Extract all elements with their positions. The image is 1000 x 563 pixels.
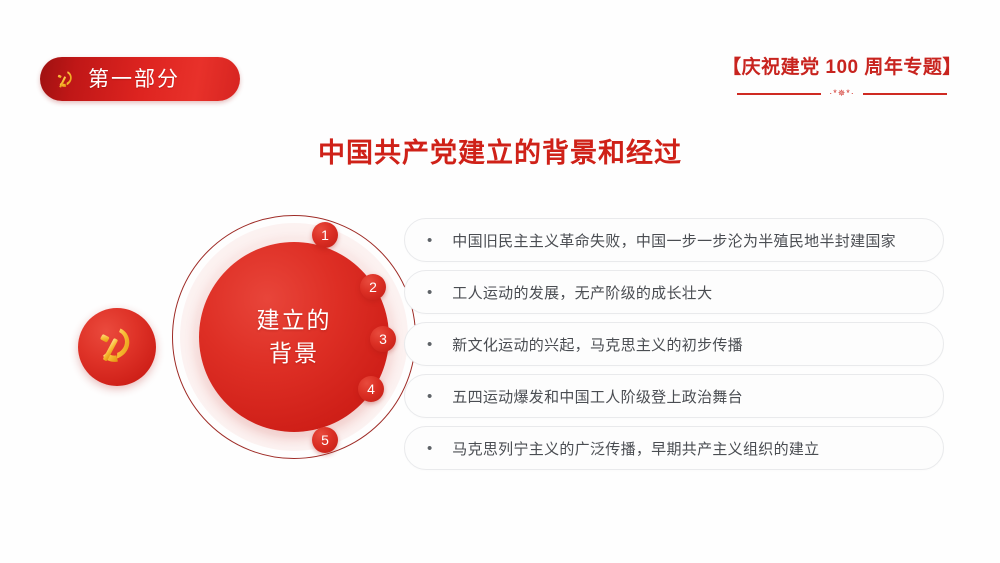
badge-number: 3 — [379, 332, 387, 346]
stars-icon: ·*✵*· — [821, 89, 863, 98]
diagram-number-badge-4[interactable]: 4 — [358, 376, 384, 402]
bullet-icon: • — [427, 337, 432, 352]
bullet-icon: • — [427, 233, 432, 248]
section-badge-label: 第一部分 — [88, 69, 180, 90]
section-badge[interactable]: 第一部分 — [40, 57, 240, 101]
core-label-line-2: 背景 — [269, 337, 319, 370]
list-item-label: 新文化运动的兴起，马克思主义的初步传播 — [452, 334, 743, 355]
page-title: 中国共产党建立的背景和经过 — [0, 131, 1000, 170]
list-item[interactable]: • 新文化运动的兴起，马克思主义的初步传播 — [404, 322, 944, 366]
anniversary-tagline-text: 【庆祝建党 100 周年专题】 — [714, 56, 970, 80]
diagram-number-badge-3[interactable]: 3 — [370, 326, 396, 352]
bullet-icon: • — [427, 285, 432, 300]
list-item-label: 五四运动爆发和中国工人阶级登上政治舞台 — [452, 386, 743, 407]
badge-number: 4 — [367, 382, 375, 396]
circle-diagram: 建立的 背景 — [70, 205, 400, 485]
diagram-core-circle: 建立的 背景 — [199, 242, 389, 432]
bullet-icon: • — [427, 389, 432, 404]
badge-number: 5 — [321, 433, 329, 447]
diagram-number-badge-5[interactable]: 5 — [312, 427, 338, 453]
list-item-label: 工人运动的发展，无产阶级的成长壮大 — [452, 282, 712, 303]
tagline-decorative-rule: ·*✵*· — [714, 87, 970, 101]
slide-canvas: 第一部分 【庆祝建党 100 周年专题】 ·*✵*· 中国共产党建立的背景和经过… — [0, 0, 1000, 563]
rule-right-line — [863, 93, 947, 95]
list-item[interactable]: • 工人运动的发展，无产阶级的成长壮大 — [404, 270, 944, 314]
rule-left-line — [737, 93, 821, 95]
party-emblem-hammer-sickle-icon — [52, 66, 79, 93]
list-item-label: 马克思列宁主义的广泛传播，早期共产主义组织的建立 — [452, 438, 819, 459]
background-points-list: • 中国旧民主主义革命失败，中国一步一步沦为半殖民地半封建国家 • 工人运动的发… — [404, 218, 944, 478]
list-item[interactable]: • 马克思列宁主义的广泛传播，早期共产主义组织的建立 — [404, 426, 944, 470]
core-label-line-1: 建立的 — [257, 304, 332, 337]
party-emblem-hammer-sickle-icon — [92, 320, 142, 375]
diagram-number-badge-2[interactable]: 2 — [360, 274, 386, 300]
bullet-icon: • — [427, 441, 432, 456]
list-item[interactable]: • 五四运动爆发和中国工人阶级登上政治舞台 — [404, 374, 944, 418]
list-item-label: 中国旧民主主义革命失败，中国一步一步沦为半殖民地半封建国家 — [452, 230, 896, 251]
anniversary-tagline: 【庆祝建党 100 周年专题】 ·*✵*· — [714, 56, 970, 101]
party-emblem-badge — [78, 308, 156, 386]
diagram-number-badge-1[interactable]: 1 — [312, 222, 338, 248]
list-item[interactable]: • 中国旧民主主义革命失败，中国一步一步沦为半殖民地半封建国家 — [404, 218, 944, 262]
badge-number: 2 — [369, 280, 377, 294]
badge-number: 1 — [321, 228, 329, 242]
